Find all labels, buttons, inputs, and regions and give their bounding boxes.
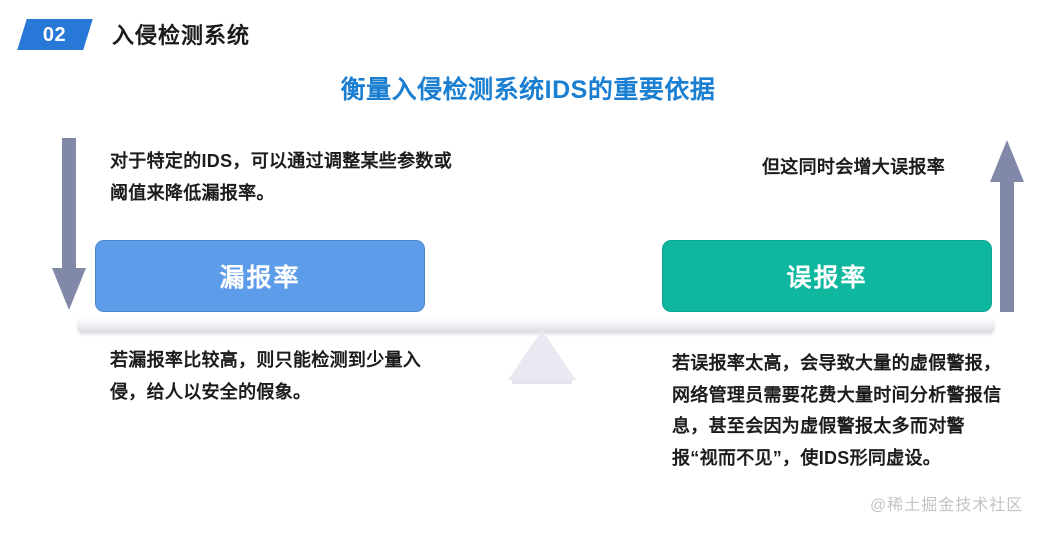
arrow-down-icon (52, 138, 86, 310)
right-bottom-note: 若误报率太高，会导致大量的虚假警报，网络管理员需要花费大量时间分析警报信息，甚至… (672, 348, 1002, 474)
slide-header: 02 入侵检测系统 (0, 14, 250, 54)
pan-right-false-alarm-rate: 误报率 (662, 240, 992, 312)
section-number-label: 02 (43, 24, 66, 44)
pan-right-label: 误报率 (786, 258, 867, 294)
fulcrum-triangle-icon (504, 330, 580, 386)
pan-left-missed-detection-rate: 漏报率 (95, 240, 425, 312)
right-top-note: 但这同时会增大误报率 (762, 152, 1012, 184)
section-number-badge: 02 (17, 19, 92, 50)
watermark: @稀土掘金技术社区 (870, 491, 1023, 515)
left-bottom-note: 若漏报率比较高，则只能检测到少量入侵，给人以安全的假象。 (110, 345, 450, 408)
page-title: 衡量入侵检测系统IDS的重要依据 (0, 70, 1056, 106)
left-top-note: 对于特定的IDS，可以通过调整某些参数或阈值来降低漏报率。 (110, 146, 470, 209)
pan-left-label: 漏报率 (219, 258, 300, 294)
slide-root: 02 入侵检测系统 衡量入侵检测系统IDS的重要依据 对于特定的IDS，可以通过… (0, 0, 1056, 533)
section-title: 入侵检测系统 (112, 18, 250, 50)
